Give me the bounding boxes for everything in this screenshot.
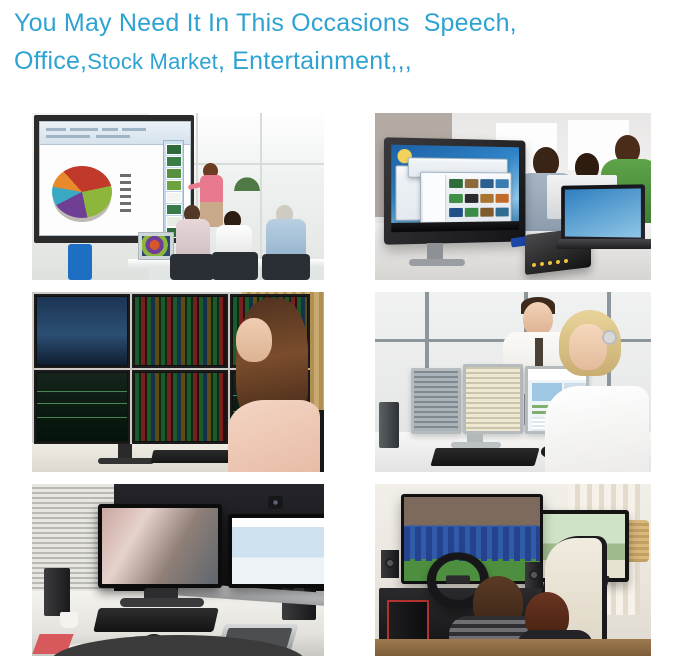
coffee-mug <box>60 612 78 628</box>
photo-office-sharing <box>375 113 651 280</box>
monitor-screen <box>37 297 127 365</box>
monitor-screen <box>414 371 458 431</box>
slide-thumbnail <box>166 156 182 167</box>
chart-legend <box>120 174 132 218</box>
photo-stock-market <box>32 292 324 472</box>
headline-line-2: Office,Stock Market, Entertainment,,, <box>14 42 664 81</box>
slide-thumbnail <box>166 168 182 179</box>
page-headline: You May Need It In This OccasionsSpeech,… <box>14 4 664 81</box>
gallery-thumbnail <box>480 194 493 203</box>
photo-home-desk <box>32 484 324 656</box>
monitor-screen <box>391 145 519 233</box>
gallery-thumbnail <box>449 194 463 203</box>
trading-monitor <box>132 370 228 444</box>
headset-earpiece <box>604 332 615 343</box>
slide-thumbnail <box>166 192 182 203</box>
monitor-screen <box>466 367 520 431</box>
desktop-monitor <box>384 137 526 245</box>
headline-line-1: You May Need It In This OccasionsSpeech, <box>14 4 664 42</box>
headline-line-1-part-2: Speech, <box>424 9 517 37</box>
trader-body <box>228 400 320 472</box>
gallery-cell-home-desk <box>32 484 324 656</box>
secondary-monitor <box>228 514 324 588</box>
slide-thumbnail <box>166 180 182 191</box>
gallery-thumbnail <box>496 208 509 217</box>
gallery-thumbnail <box>465 208 479 217</box>
operator-body <box>545 386 649 472</box>
gallery-thumbnail <box>496 194 509 203</box>
wooden-floor <box>375 639 651 656</box>
office-plant <box>232 175 262 191</box>
speaker <box>525 562 543 588</box>
photo-entertainment <box>375 484 651 656</box>
wall-mullion <box>260 113 262 280</box>
gallery-thumbnail <box>465 194 479 203</box>
gallery-sidebar <box>423 175 446 222</box>
gallery-cell-presentation <box>32 113 324 280</box>
home-keyboard <box>93 608 219 632</box>
trader-face <box>236 318 272 362</box>
trading-keyboard <box>151 450 240 463</box>
gallery-thumbnail <box>480 179 493 188</box>
slide-thumbnail <box>166 204 182 215</box>
monitor-base <box>120 598 204 607</box>
monitor-base <box>98 458 154 464</box>
headline-line-2-part-2: Stock Market <box>87 49 218 74</box>
desktop-speaker <box>44 568 70 616</box>
monitor-screen <box>135 373 225 441</box>
gallery-thumbnail <box>496 179 509 188</box>
attendee-body <box>176 219 210 259</box>
scenario-gallery <box>0 108 679 664</box>
blue-chair <box>68 244 92 280</box>
trading-monitor <box>132 294 228 368</box>
gallery-cell-workstation <box>375 292 651 472</box>
desktop-tower <box>379 402 399 448</box>
gallery-thumbnail <box>480 208 493 217</box>
slide-thumbnail <box>166 144 182 155</box>
projection-screen-frame <box>34 115 194 243</box>
monitor-wall <box>34 294 228 444</box>
workstation-monitor <box>411 368 461 434</box>
laptop-display <box>561 184 645 241</box>
headline-line-2-part-1: Office, <box>14 47 87 75</box>
headline-line-1-part-1: You May Need It In This Occasions <box>14 9 410 37</box>
trading-monitor <box>34 294 130 368</box>
trading-monitor <box>34 370 130 444</box>
gallery-cell-entertainment <box>375 484 651 656</box>
gallery-thumbnail <box>465 179 479 188</box>
gallery-thumbnail <box>449 179 463 188</box>
speaker <box>381 550 399 578</box>
photo-workstation <box>375 292 651 472</box>
photo-gallery-window <box>420 172 511 227</box>
headline-line-2-part-3: , Entertainment,,, <box>218 47 412 75</box>
laptop-keyboard-base <box>555 239 651 249</box>
taskbar <box>391 221 519 232</box>
photo-presentation <box>32 113 324 280</box>
primary-monitor <box>98 504 222 588</box>
meeting-chair <box>212 252 258 280</box>
monitor-screen <box>135 297 225 365</box>
workstation-monitor <box>463 364 523 434</box>
monitor-base <box>409 259 465 266</box>
monitor-screen <box>37 373 127 441</box>
gallery-thumbnail-grid <box>447 177 510 223</box>
splitter-led-row <box>532 263 536 267</box>
workstation-keyboard <box>430 448 539 466</box>
gallery-cell-stock-market <box>32 292 324 472</box>
gallery-thumbnail <box>449 208 463 217</box>
meeting-chair <box>170 254 214 280</box>
manager-head <box>523 302 553 336</box>
operator-face <box>569 324 607 370</box>
projection-screen <box>39 121 191 236</box>
webcam <box>268 496 283 509</box>
gallery-cell-office-sharing <box>375 113 651 280</box>
pie-chart <box>52 166 112 218</box>
open-laptop <box>138 232 174 260</box>
meeting-chair <box>262 254 310 280</box>
